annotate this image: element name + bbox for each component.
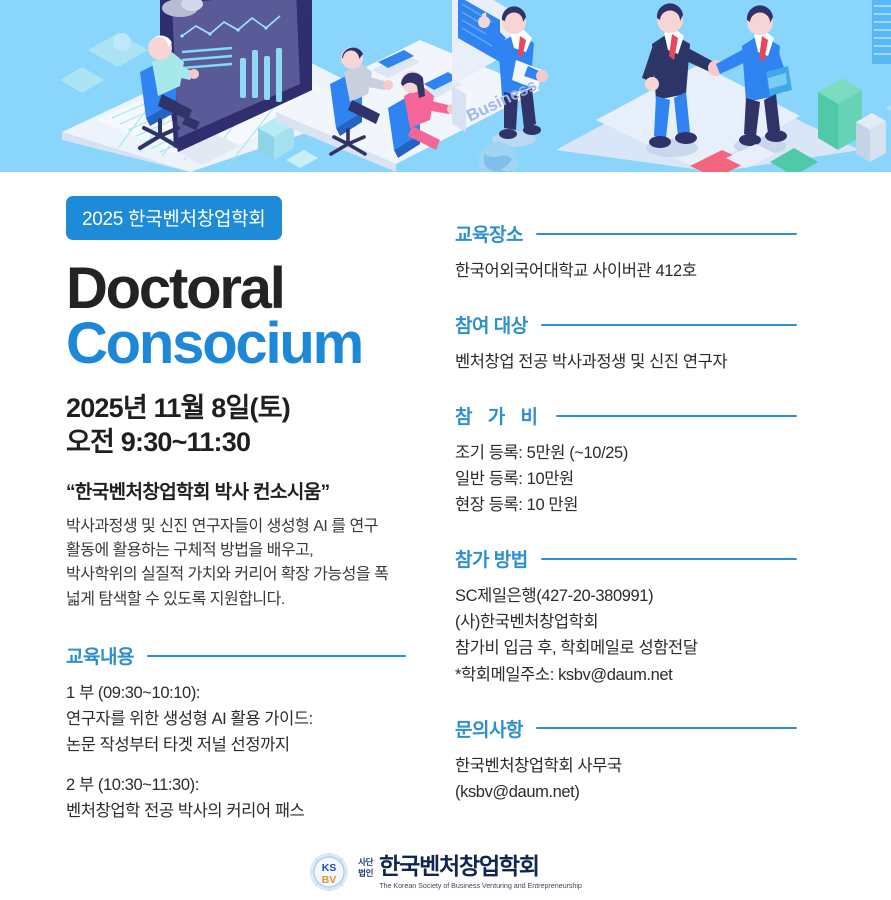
inquiry-title: 문의사항 xyxy=(455,715,523,742)
fee-title: 참 가 비 xyxy=(455,402,543,429)
audience-title: 참여 대상 xyxy=(455,311,528,338)
logo-prefix: 사단 법인 xyxy=(358,854,373,878)
heading-divider xyxy=(536,233,797,235)
title-line-1: Doctoral xyxy=(66,262,426,317)
account-holder: (사)한국벤처창업학회 xyxy=(455,609,797,635)
section-audience: 참여 대상 벤처창업 전공 박사과정생 및 신진 연구자 xyxy=(455,311,797,375)
fee-body: 조기 등록: 5만원 (~10/25) 일반 등록: 10만원 현장 등록: 1… xyxy=(455,440,797,518)
curriculum-part2-header: 2 부 (10:30~11:30): xyxy=(66,772,406,798)
society-name-english: The Korean Society of Business Venturing… xyxy=(379,881,582,890)
heading-divider xyxy=(541,558,797,560)
description-line: 활동에 활용하는 구체적 방법을 배우고, xyxy=(66,539,426,563)
section-venue: 교육장소 한국어외국어대학교 사이버관 412호 xyxy=(455,220,797,284)
curriculum-part1-line1: 연구자를 위한 생성형 AI 활용 가이드: xyxy=(66,706,406,732)
payment-note: 참가비 입금 후, 학회메일로 성함전달 xyxy=(455,635,797,661)
description-line: 박사학위의 실질적 가치와 커리어 확장 가능성을 폭 xyxy=(66,563,426,587)
title-line-2: Consocium xyxy=(66,317,426,372)
svg-text:BV: BV xyxy=(322,874,337,886)
inquiry-office: 한국벤처창업학회 사무국 xyxy=(455,753,797,779)
details-column: 교육장소 한국어외국어대학교 사이버관 412호 참여 대상 벤처창업 전공 박… xyxy=(455,220,797,805)
fee-early: 조기 등록: 5만원 (~10/25) xyxy=(455,440,797,466)
heading-divider xyxy=(147,655,406,657)
curriculum-part2-line1: 벤처창업학 전공 박사의 커리어 패스 xyxy=(66,798,406,824)
society-name: 한국벤처창업학회 xyxy=(379,854,582,878)
audience-heading: 참여 대상 xyxy=(455,311,797,338)
curriculum-part1-header: 1 부 (09:30~10:10): xyxy=(66,680,406,706)
svg-text:KS: KS xyxy=(322,862,337,874)
curriculum-title: 교육내용 xyxy=(66,642,134,669)
howto-body: SC제일은행(427-20-380991) (사)한국벤처창업학회 참가비 입금… xyxy=(455,583,797,687)
curriculum-body: 1 부 (09:30~10:10): 연구자를 위한 생성형 AI 활용 가이드… xyxy=(66,680,406,824)
edge-stripes xyxy=(872,0,891,64)
banner-illustration: Business xyxy=(0,0,891,172)
society-year-badge: 2025 한국벤처창업학회 xyxy=(66,196,282,240)
logo-prefix-line2: 법인 xyxy=(358,868,373,879)
howto-title: 참가 방법 xyxy=(455,545,528,572)
footer-logo: KS BV 사단 법인 한국벤처창업학회 The Korean Society … xyxy=(0,852,891,892)
curriculum-heading: 교육내용 xyxy=(66,642,406,669)
section-howto: 참가 방법 SC제일은행(427-20-380991) (사)한국벤처창업학회 … xyxy=(455,545,797,687)
description-line: 넓게 탐색할 수 있도록 지원합니다. xyxy=(66,588,426,612)
logo-text-group: 사단 법인 한국벤처창업학회 The Korean Society of Bus… xyxy=(358,854,582,889)
poster-content: 2025 한국벤처창업학회 Doctoral Consocium 2025년 1… xyxy=(0,172,891,900)
page-title: Doctoral Consocium xyxy=(66,262,426,371)
heading-divider xyxy=(541,324,797,326)
description-line: 박사과정생 및 신진 연구자들이 생성형 AI 를 연구 xyxy=(66,515,426,539)
howto-heading: 참가 방법 xyxy=(455,545,797,572)
curriculum-part1-line2: 논문 작성부터 타겟 저널 선정까지 xyxy=(66,732,406,758)
ksbv-emblem-icon: KS BV xyxy=(309,852,349,892)
hero-column: 2025 한국벤처창업학회 Doctoral Consocium 2025년 1… xyxy=(66,196,426,612)
heading-divider xyxy=(536,727,797,729)
section-curriculum: 교육내용 1 부 (09:30~10:10): 연구자를 위한 생성형 AI 활… xyxy=(66,642,406,824)
logo-prefix-line1: 사단 xyxy=(358,857,373,868)
fee-heading: 참 가 비 xyxy=(455,402,797,429)
inquiry-email: (ksbv@daum.net) xyxy=(455,779,797,805)
section-inquiry: 문의사항 한국벤처창업학회 사무국 (ksbv@daum.net) xyxy=(455,715,797,805)
venue-body: 한국어외국어대학교 사이버관 412호 xyxy=(455,258,797,284)
event-description: 박사과정생 및 신진 연구자들이 생성형 AI 를 연구 활동에 활용하는 구체… xyxy=(66,515,426,612)
inquiry-heading: 문의사항 xyxy=(455,715,797,742)
society-email-note: *학회메일주소: ksbv@daum.net xyxy=(455,662,797,688)
venue-title: 교육장소 xyxy=(455,220,523,247)
bank-account: SC제일은행(427-20-380991) xyxy=(455,583,797,609)
section-fee: 참 가 비 조기 등록: 5만원 (~10/25) 일반 등록: 10만원 현장… xyxy=(455,402,797,518)
inquiry-body: 한국벤처창업학회 사무국 (ksbv@daum.net) xyxy=(455,753,797,805)
fee-onsite: 현장 등록: 10 만원 xyxy=(455,492,797,518)
venue-heading: 교육장소 xyxy=(455,220,797,247)
event-time: 오전 9:30~11:30 xyxy=(66,425,426,459)
spacer xyxy=(66,758,406,772)
event-subtitle-quote: “한국벤처창업학회 박사 컨소시움” xyxy=(66,477,426,504)
ksbv-logo: KS BV 사단 법인 한국벤처창업학회 The Korean Society … xyxy=(309,852,582,892)
audience-body: 벤처창업 전공 박사과정생 및 신진 연구자 xyxy=(455,349,797,375)
logo-name-group: 한국벤처창업학회 The Korean Society of Business … xyxy=(379,854,582,889)
event-datetime: 2025년 11월 8일(토) 오전 9:30~11:30 xyxy=(66,391,426,460)
fee-regular: 일반 등록: 10만원 xyxy=(455,466,797,492)
heading-divider xyxy=(556,415,797,417)
event-date: 2025년 11월 8일(토) xyxy=(66,391,426,425)
